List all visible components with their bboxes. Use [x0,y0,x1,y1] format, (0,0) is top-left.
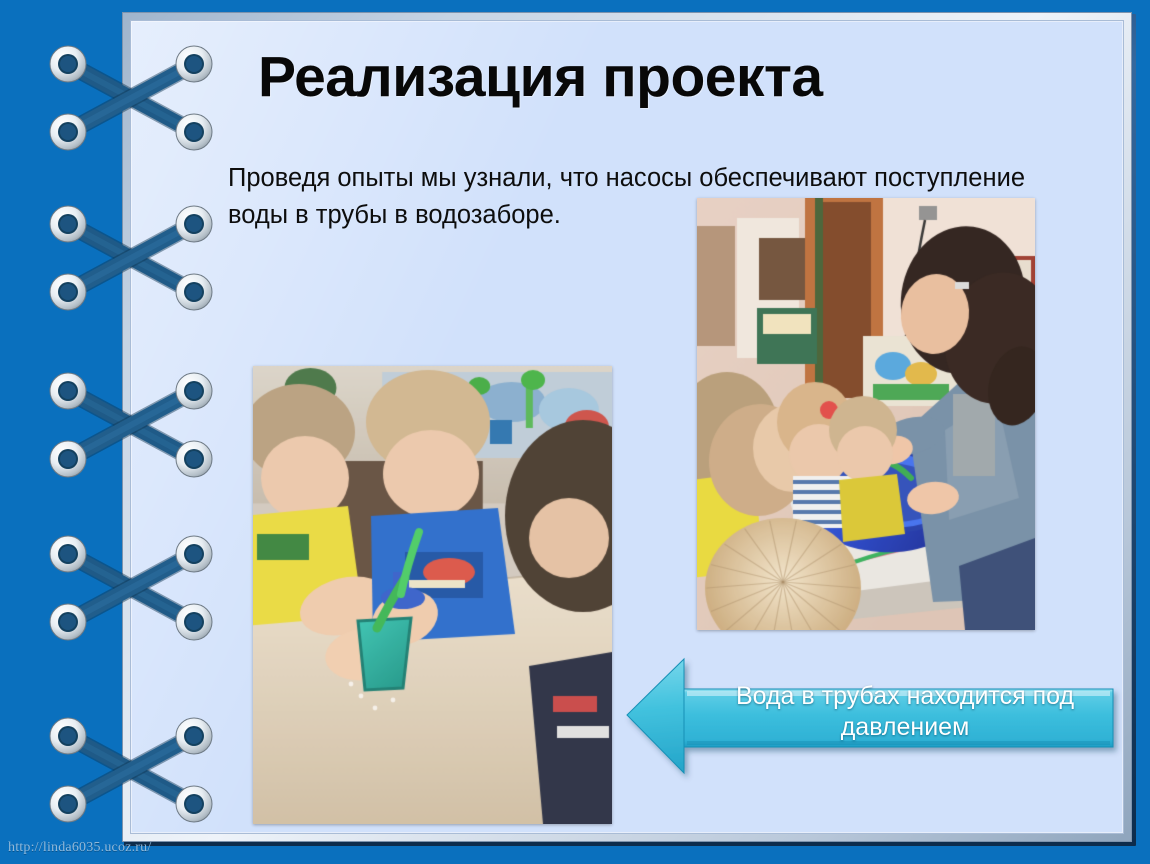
lace-cross-5 [38,710,224,830]
callout-line-1: Вода в трубах находится под [736,682,1074,710]
callout-text: Вода в трубах находится под давлением [711,681,1099,744]
photo-children-cup-experiment [253,366,612,824]
photo-teacher-basin-experiment [697,198,1035,630]
lace-cross-4 [38,528,224,648]
page-title: Реализация проекта [258,48,958,108]
watermark-url: http://linda6035.ucoz.ru/ [8,840,151,856]
callout-left-arrow: Вода в трубах находится под давлением [627,657,1113,773]
lace-cross-3 [38,365,224,485]
slide-canvas: Реализация проекта Проведя опыты мы узна… [0,0,1150,864]
lace-cross-2 [38,198,224,318]
lace-cross-1 [38,38,224,158]
photo-right-canvas [697,198,1035,630]
photo-left-canvas [253,366,612,824]
callout-line-2: давлением [841,713,970,741]
